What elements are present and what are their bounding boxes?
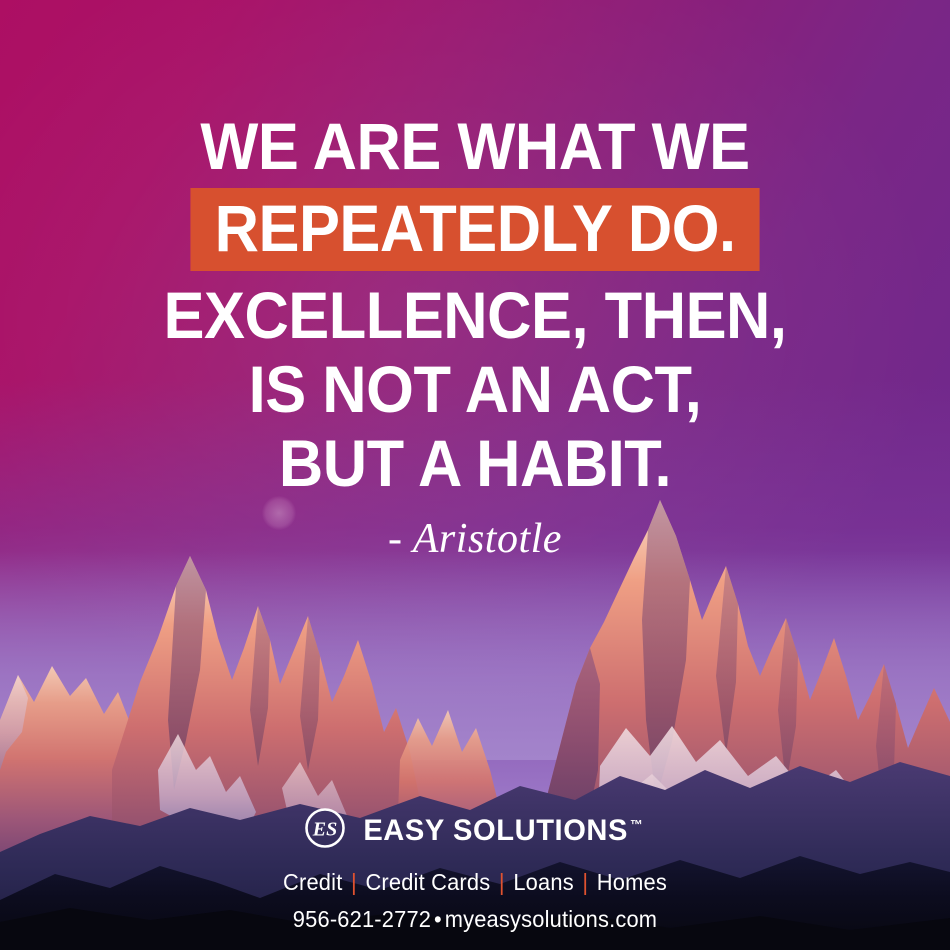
quote-line-4: IS NOT AN ACT,	[33, 355, 917, 423]
quote-line-3: EXCELLENCE, THEN,	[33, 281, 917, 349]
brand-name: EASY SOLUTIONS™	[363, 809, 642, 847]
bullet-separator: •	[431, 906, 445, 932]
service-item-credit-cards[interactable]: Credit Cards	[365, 869, 490, 895]
footer: ES EASY SOLUTIONS™ Credit | Credit Cards…	[0, 807, 950, 950]
quote-highlight-wrap: REPEATEDLY DO.	[0, 188, 950, 271]
es-monogram-circle-icon: ES	[304, 807, 346, 849]
service-item-credit[interactable]: Credit	[283, 869, 342, 895]
contact-line: 956-621-2772•myeasysolutions.com	[24, 906, 927, 932]
service-separator: |	[499, 869, 505, 895]
brand-lockup: ES EASY SOLUTIONS™	[0, 807, 950, 849]
service-item-homes[interactable]: Homes	[597, 869, 667, 895]
quote-line-1: WE ARE WHAT WE	[33, 112, 917, 180]
service-separator: |	[351, 869, 357, 895]
services-list: Credit | Credit Cards | Loans | Homes	[24, 869, 927, 895]
phone-number[interactable]: 956-621-2772	[293, 906, 431, 932]
quote-highlight-line: REPEATEDLY DO.	[190, 188, 759, 271]
quote-block: WE ARE WHAT WE REPEATEDLY DO. EXCELLENCE…	[0, 0, 950, 563]
quote-line-5: BUT A HABIT.	[33, 429, 917, 497]
svg-text:ES: ES	[311, 819, 336, 841]
website-url[interactable]: myeasysolutions.com	[445, 906, 657, 932]
quote-attribution: - Aristotle	[0, 515, 950, 563]
quote-poster: WE ARE WHAT WE REPEATEDLY DO. EXCELLENCE…	[0, 0, 950, 950]
trademark-symbol: ™	[630, 817, 643, 832]
brand-name-text: EASY SOLUTIONS	[363, 814, 628, 847]
service-separator: |	[582, 869, 588, 895]
service-item-loans[interactable]: Loans	[513, 869, 573, 895]
